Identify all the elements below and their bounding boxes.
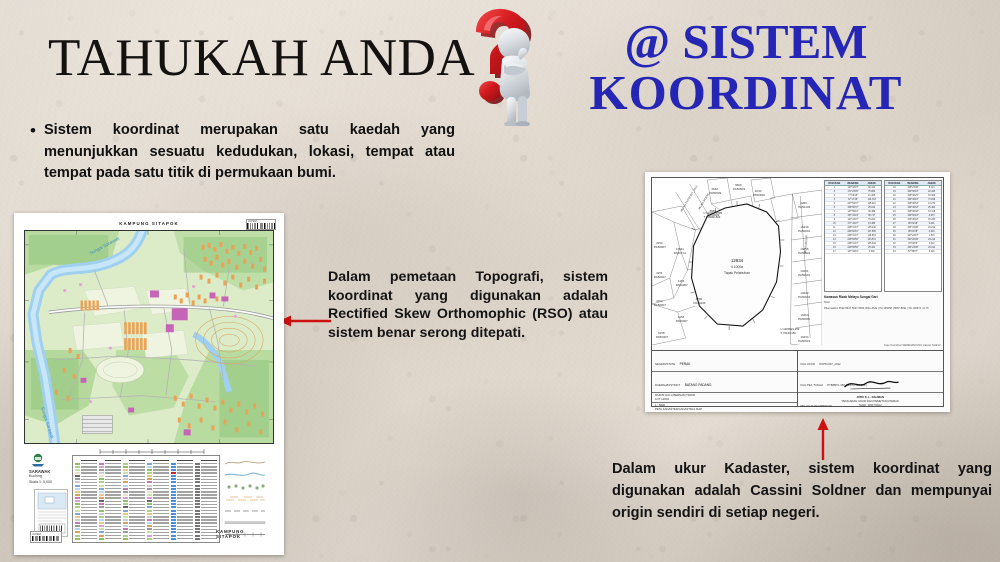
cadastral-lot-diagram: 12634 4.1000a Tapak Pelabuhan U 1201173.… xyxy=(652,178,822,345)
table-header-cell: JARAK xyxy=(922,181,941,185)
tb-field-negeri: NEGERI/STATE PERAK xyxy=(652,351,797,372)
svg-text:PA50601: PA50601 xyxy=(798,295,810,299)
topo-scale-bar xyxy=(72,447,220,455)
topo-sheet-title: KAMPUNG SITAPOK xyxy=(22,221,276,226)
table-header-cell: RUJUKAN xyxy=(885,181,904,185)
symbol-river-icon xyxy=(223,471,267,478)
tb-field-mukim: MUKIM HULU BERNAM TIMUR LOT 12634 xyxy=(652,393,797,403)
bullet-marker: • xyxy=(30,120,36,185)
cadastral-area-title: Kawasan Rizab Melayu Sungai Gari xyxy=(824,295,942,299)
table-row: 3467°36'07"6.116 xyxy=(885,250,941,254)
table-row: 17147°34'10"3.002 xyxy=(825,250,881,254)
topo-legend-state-block: SARAWAK Kuching Skala 1: 5,000 xyxy=(29,469,52,485)
question-mark-icon xyxy=(452,4,572,126)
svg-text:PA50007: PA50007 xyxy=(654,303,666,307)
question-mark-thinker-graphic xyxy=(452,4,572,126)
tb-field-fail-ukur: FAIL UKUR PUPM 007_2012 xyxy=(798,351,944,372)
tb-field-skala: 1 : 5000 PETA KADASTER/CADASTRAL MAP xyxy=(652,403,797,412)
signature-date: Tarikh: 30/07/2012 xyxy=(805,404,936,408)
callout-cadastral-text: Dalam ukur Kadaster, sistem koordinat ya… xyxy=(612,458,992,524)
svg-text:PA50714: PA50714 xyxy=(674,251,686,255)
symbol-boundary-icon xyxy=(223,507,267,514)
cadastral-area-note: Kawasan Rizab Melayu Sungai Gari Nota: D… xyxy=(824,295,942,311)
cad-centre-lot-sub: Tapak Pelabuhan xyxy=(724,271,750,275)
symbol-road-icon xyxy=(223,519,267,526)
topo-legend-column xyxy=(123,459,145,540)
topo-legend-row: SARAWAK Kuching Skala 1: 5,000 xyxy=(22,449,276,547)
page-title-right: @ SISTEM KOORDINAT xyxy=(546,16,946,119)
svg-text:PA50007: PA50007 xyxy=(654,245,666,249)
cadastral-title-block: NEGERI/STATE PERAK DAERAH/DISTRICT BATAN… xyxy=(652,350,943,406)
cadastral-title-block-left: NEGERI/STATE PERAK DAERAH/DISTRICT BATAN… xyxy=(652,351,798,406)
topo-legend-column xyxy=(195,459,217,540)
cadastral-table-right: RUJUKAN BEARING JARAK 18348°21'06"5.114 … xyxy=(884,180,942,292)
slide-canvas: TAHUKAH ANDA @ SISTEM KOORDINAT xyxy=(0,0,1000,562)
topo-legend-scale: Skala 1: 5,000 xyxy=(29,480,52,485)
cadastral-note-label: Nota: xyxy=(824,301,942,305)
cadastral-note-text: Dikemaskini 5632-5637,5647-5653,4541-454… xyxy=(824,307,942,311)
topo-barcode: JUPEM xyxy=(246,219,276,230)
topo-legend-symbols: KAMPUNG SITAPOK xyxy=(216,455,274,543)
tb-field-daerah: DAERAH/DISTRICT BATANG PADANG xyxy=(652,372,797,393)
svg-text:PA50609: PA50609 xyxy=(707,213,719,217)
svg-text:PA50007: PA50007 xyxy=(676,319,688,323)
symbol-contour-icon xyxy=(223,459,267,466)
topo-legend-index-box xyxy=(34,489,68,537)
svg-text:PA50601: PA50601 xyxy=(798,339,810,343)
topo-map-artwork: Sungai Sarawak Sungai Sarawak xyxy=(25,231,273,443)
table-header-cell: JARAK xyxy=(862,181,881,185)
topo-legend-panel xyxy=(72,455,220,543)
cad-centre-lot-number: 12634 xyxy=(731,258,744,263)
svg-text:PA50007: PA50007 xyxy=(656,335,668,339)
cadastral-plan-sheet[interactable]: 12634 4.1000a Tapak Pelabuhan U 1201173.… xyxy=(645,172,950,412)
topo-legend-column xyxy=(99,459,121,540)
table-header-cell: BEARING xyxy=(904,181,923,185)
svg-text:PA74433: PA74433 xyxy=(694,301,706,305)
topo-legend-barcode-bars xyxy=(32,536,60,541)
svg-text:PA50601: PA50601 xyxy=(798,317,810,321)
svg-text:PA50007: PA50007 xyxy=(654,275,666,279)
symbol-vegetation-icon xyxy=(223,483,267,490)
topo-index-diagram xyxy=(35,490,68,537)
svg-text:PA50601: PA50601 xyxy=(798,229,810,233)
svg-text:PA50103: PA50103 xyxy=(798,205,810,209)
cadastral-title-block-right: FAIL UKUR PUPM 007_2012 FAIL PEJ. TANAH … xyxy=(798,351,944,406)
signature-icon xyxy=(840,377,900,391)
topo-legend-column xyxy=(147,459,169,540)
cadastral-plan-inner: 12634 4.1000a Tapak Pelabuhan U 1201173.… xyxy=(651,177,944,407)
thinking-person-icon xyxy=(498,28,530,126)
svg-text:T 70434.150: T 70434.150 xyxy=(780,331,796,335)
topo-sheet-name-bottom: KAMPUNG SITAPOK xyxy=(216,529,270,539)
topo-barcode-bars xyxy=(247,223,275,229)
topo-legend-column xyxy=(75,459,97,540)
topo-legend-columns xyxy=(75,459,217,540)
cadastral-drawing-area: 12634 4.1000a Tapak Pelabuhan U 1201173.… xyxy=(652,178,822,345)
svg-text:PA50007: PA50007 xyxy=(676,283,688,287)
svg-text:PA50609: PA50609 xyxy=(709,191,721,195)
page-title-right-line1: @ SISTEM xyxy=(546,16,946,67)
cadastral-table-left: RUJUKAN BEARING JARAK 1137°44'07"40.441 … xyxy=(824,180,882,292)
arrow-left-icon xyxy=(279,314,331,328)
page-title-left: TAHUKAH ANDA xyxy=(48,28,475,88)
svg-text:PA50609: PA50609 xyxy=(733,187,745,191)
cadastral-credit: Asas Koordinat SEMENANJUNG Cassini Soldn… xyxy=(884,344,941,347)
table-header-cell: BEARING xyxy=(844,181,863,185)
topo-legend-barcode: JUPEM xyxy=(30,531,62,543)
cad-centre-lot-area: 4.1000a xyxy=(731,265,743,269)
callout-topographic-text: Dalam pemetaan Topografi, sistem koordin… xyxy=(328,268,608,342)
topo-legend-column xyxy=(171,459,193,540)
page-title-right-line2: KOORDINAT xyxy=(546,67,946,118)
symbol-marsh-icon xyxy=(223,495,267,502)
topo-map-frame: Sungai Sarawak Sungai Sarawak xyxy=(24,230,274,444)
svg-text:PA50609: PA50609 xyxy=(753,193,765,197)
topographic-map-sheet[interactable]: KAMPUNG SITAPOK JUPEM xyxy=(14,213,284,555)
arrow-up-icon xyxy=(816,418,830,460)
cadastral-coordinate-tables: RUJUKAN BEARING JARAK 1137°44'07"40.441 … xyxy=(824,180,942,292)
table-header-cell: RUJUKAN xyxy=(825,181,844,185)
topographic-map-inner: KAMPUNG SITAPOK JUPEM xyxy=(22,219,276,549)
intro-bullet-text: Sistem koordinat merupakan satu kaedah y… xyxy=(44,120,455,185)
cadastral-signature-block: JURU K. L. RAHMAN PENGARAH UKUR DAN PEME… xyxy=(805,377,936,407)
intro-bullet: • Sistem koordinat merupakan satu kaedah… xyxy=(30,120,455,185)
svg-text:PA50601: PA50601 xyxy=(798,273,810,277)
jupem-logo-icon xyxy=(30,453,46,467)
